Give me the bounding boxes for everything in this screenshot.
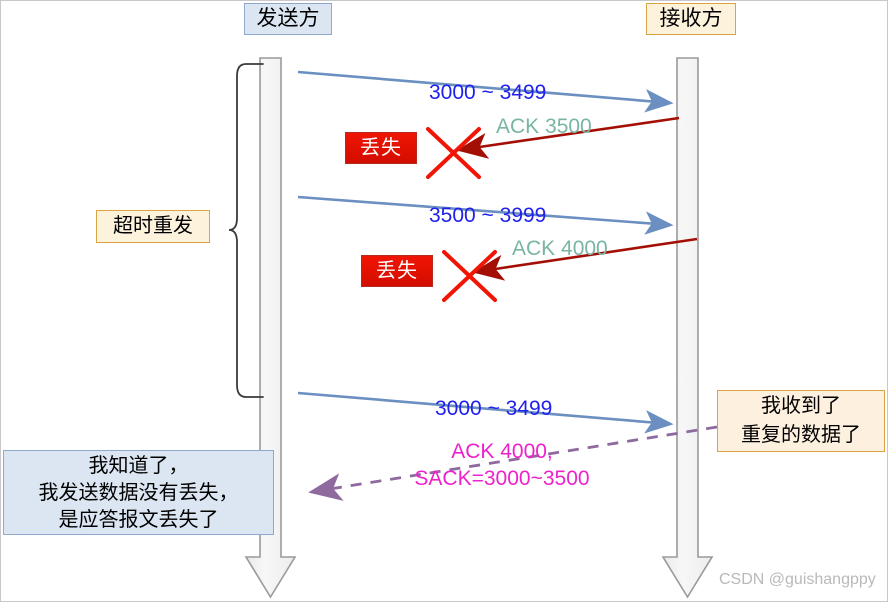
receiver-lifeline	[663, 58, 712, 597]
timeout-brace	[229, 64, 263, 397]
sender-conclusion-line-3: 是应答报文丢失了	[4, 507, 273, 534]
receiver-duplicate-line-2: 重复的数据了	[718, 421, 884, 450]
tcp-sack-sequence-diagram: 发送方 接收方 3000 ~ 3499 ACK 3500 3500 ~ 3999…	[0, 0, 888, 602]
receiver-duplicate-line-1: 我收到了	[718, 392, 884, 421]
note-sender-conclusion: 我知道了， 我发送数据没有丢失， 是应答报文丢失了	[3, 450, 274, 535]
actor-receiver-label: 接收方	[646, 3, 736, 35]
loss-badge-1: 丢失	[345, 132, 417, 164]
message-label-sack-1: ACK 4000, SACK=3000~3500	[398, 438, 606, 492]
note-receiver-duplicate: 我收到了 重复的数据了	[717, 390, 885, 452]
message-label-ack-1: ACK 3500	[496, 115, 592, 139]
actor-sender-label: 发送方	[244, 3, 332, 35]
message-label-data-2: 3500 ~ 3999	[429, 204, 546, 228]
message-label-data-3: 3000 ~ 3499	[435, 397, 552, 421]
loss-badge-2: 丢失	[361, 255, 433, 287]
watermark-text: CSDN @guishangppy	[719, 571, 876, 589]
note-timeout-retransmit: 超时重发	[96, 210, 210, 243]
message-label-data-1: 3000 ~ 3499	[429, 81, 546, 105]
loss-cross-1	[428, 129, 479, 177]
message-label-ack-2: ACK 4000	[512, 237, 608, 261]
sender-conclusion-line-1: 我知道了，	[4, 453, 273, 480]
sender-conclusion-line-2: 我发送数据没有丢失，	[4, 480, 273, 507]
sack-label-line-1: ACK 4000,	[398, 438, 606, 465]
loss-cross-2	[444, 252, 495, 300]
sack-label-line-2: SACK=3000~3500	[398, 465, 606, 492]
